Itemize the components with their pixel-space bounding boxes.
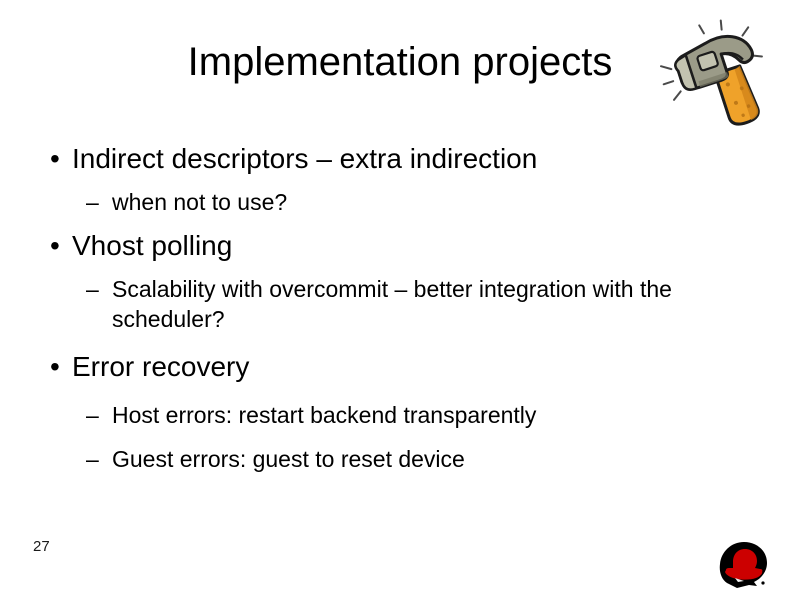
bullet-text: Indirect descriptors – extra indirection <box>72 143 537 174</box>
slide: Implementation projects <box>0 0 800 600</box>
bullet-text: Vhost polling <box>72 230 232 261</box>
sub-bullet-marker-icon: – <box>86 274 99 304</box>
sub-bullet-item: – Host errors: restart backend transpare… <box>44 400 760 430</box>
sub-bullet-marker-icon: – <box>86 444 99 474</box>
sub-bullet-text: when not to use? <box>112 189 287 215</box>
sub-bullet-marker-icon: – <box>86 400 99 430</box>
slide-body: • Indirect descriptors – extra indirecti… <box>44 136 760 488</box>
bullet-group: • Vhost polling – Scalability with overc… <box>44 227 760 334</box>
sub-bullet-item: – Guest errors: guest to reset device <box>44 444 760 474</box>
red-hat-logo-icon <box>713 540 775 590</box>
sub-bullet-text: Guest errors: guest to reset device <box>112 446 465 472</box>
bullet-marker-icon: • <box>50 227 60 265</box>
bullet-group: • Error recovery – Host errors: restart … <box>44 348 760 474</box>
sub-bullet-text: Scalability with overcommit – better int… <box>112 276 672 332</box>
sub-bullet-item: – when not to use? <box>44 187 760 217</box>
bullet-marker-icon: • <box>50 140 60 178</box>
bullet-group: • Indirect descriptors – extra indirecti… <box>44 140 760 217</box>
bullet-text: Error recovery <box>72 351 249 382</box>
bullet-marker-icon: • <box>50 348 60 386</box>
bullet-item: • Indirect descriptors – extra indirecti… <box>44 140 760 178</box>
bullet-item: • Error recovery <box>44 348 760 386</box>
bullet-item: • Vhost polling <box>44 227 760 265</box>
page-number: 27 <box>33 538 50 556</box>
hammer-icon <box>657 14 785 132</box>
sub-bullet-text: Host errors: restart backend transparent… <box>112 402 536 428</box>
sub-bullet-marker-icon: – <box>86 187 99 217</box>
sub-bullet-item: – Scalability with overcommit – better i… <box>44 274 760 334</box>
